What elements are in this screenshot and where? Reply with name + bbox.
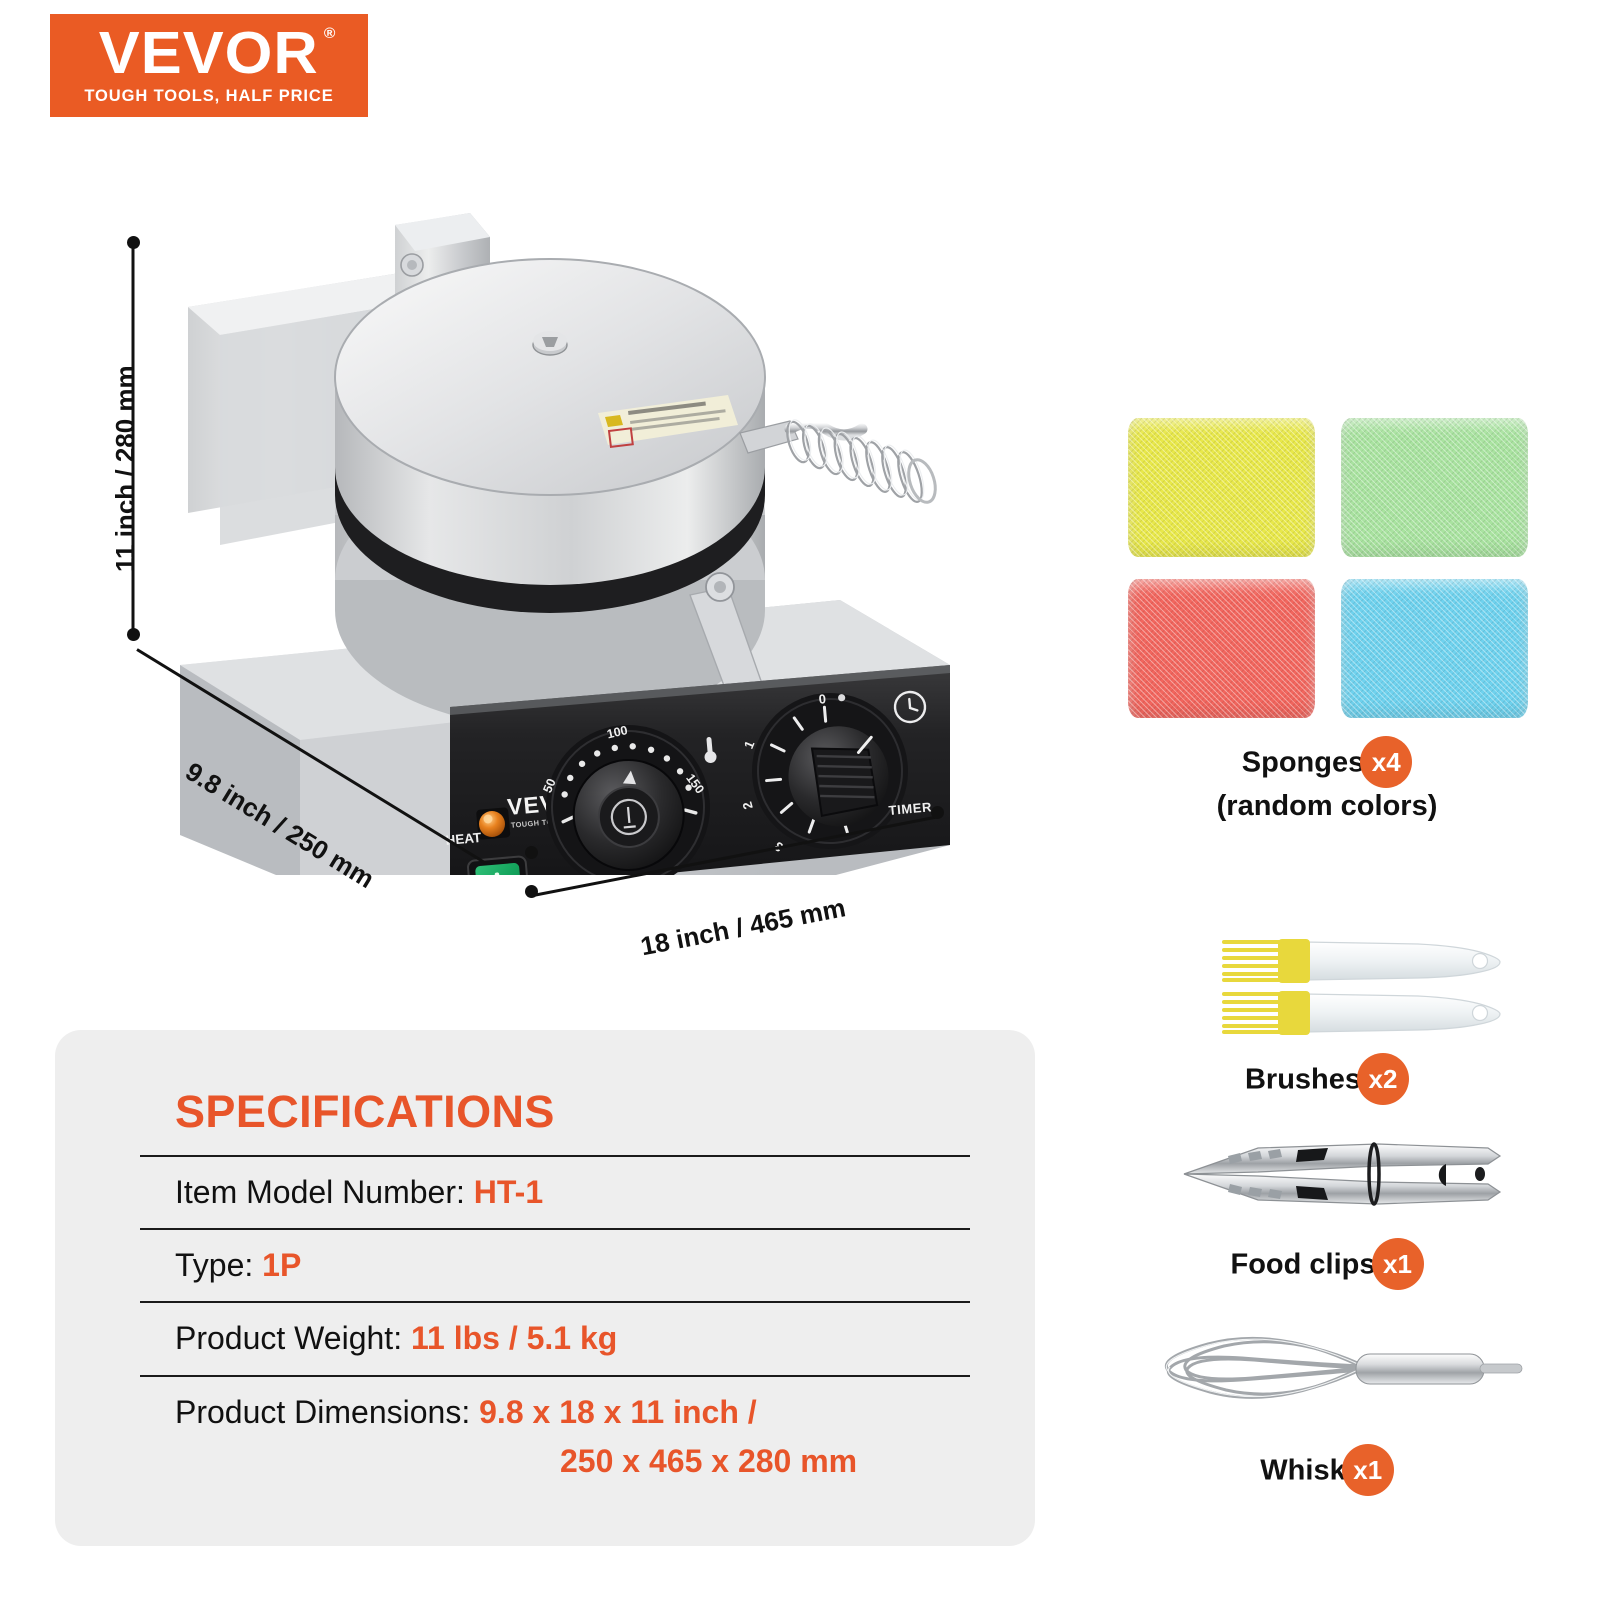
spec-value-type: 1P (262, 1247, 301, 1283)
whisk-wires (1166, 1338, 1360, 1397)
sponge-red (1128, 579, 1315, 718)
brush-2 (1224, 991, 1500, 1035)
infographic-page: VEVOR ® TOUGH TOOLS, HALF PRICE (0, 0, 1600, 1600)
spec-row-model: Item Model Number: HT-1 (140, 1155, 970, 1228)
food-clips-qty-badge: x1 (1372, 1238, 1424, 1290)
brushes-qty-badge: x2 (1357, 1053, 1409, 1105)
spec-value-model: HT-1 (474, 1174, 543, 1210)
food-clips-caption: Food clipsx1 (1128, 1240, 1526, 1292)
spec-row-dimensions: Product Dimensions: 9.8 x 18 x 11 inch /… (140, 1375, 970, 1487)
accessory-sponges: Spongesx4 (random colors) (1128, 418, 1526, 848)
spec-label-type: Type: (175, 1247, 253, 1283)
heat-indicator-lamp (476, 807, 510, 840)
lid-bolt (533, 331, 567, 355)
dim-height-dot-bottom (127, 628, 140, 641)
sponge-green (1341, 418, 1528, 557)
accessory-whisk: Whiskx1 (1128, 1318, 1526, 1498)
sponges-note: (random colors) (1128, 790, 1526, 823)
brushes-name: Brushes (1245, 1064, 1361, 1096)
brand-name-text: VEVOR (99, 20, 319, 86)
specifications-title: SPECIFICATIONS (175, 1086, 555, 1138)
timer-knob-grip[interactable] (812, 743, 878, 816)
dim-depth-dot-end (525, 846, 538, 859)
spec-value-dimensions: 9.8 x 18 x 11 inch / (479, 1394, 757, 1430)
accessory-brushes: Brushesx2 (1128, 930, 1526, 1110)
dim-width-dot-end (931, 806, 944, 819)
registered-trademark-icon: ® (324, 27, 337, 41)
whisk-name: Whisk (1260, 1455, 1345, 1487)
tongs (1184, 1144, 1500, 1204)
sponges-name: Sponges (1242, 747, 1364, 779)
brushes-caption: Brushesx2 (1128, 1055, 1526, 1107)
brushes-image (1128, 930, 1526, 1050)
spec-label-model: Item Model Number: (175, 1174, 465, 1210)
spec-label-weight: Product Weight: (175, 1320, 402, 1356)
sponge-grid (1128, 418, 1528, 718)
specifications-card: SPECIFICATIONS Item Model Number: HT-1 T… (55, 1030, 1035, 1546)
whisk-image (1128, 1318, 1526, 1438)
whisk-caption: Whiskx1 (1128, 1446, 1526, 1498)
product-image: VEVOR TOUGH TOOLS, HALF PRICE HEAT POWER (150, 195, 970, 875)
spring-handle (740, 417, 940, 505)
spec-value-dimensions-metric: 250 x 465 x 280 mm (560, 1440, 970, 1483)
specifications-table: Item Model Number: HT-1 Type: 1P Product… (140, 1155, 970, 1487)
brand-wordmark: VEVOR ® (99, 25, 319, 82)
whisk-handle (1356, 1354, 1522, 1384)
spec-value-weight: 11 lbs / 5.1 kg (411, 1320, 617, 1356)
sponges-qty-badge: x4 (1360, 736, 1412, 788)
brand-tagline: TOUGH TOOLS, HALF PRICE (84, 87, 333, 106)
spec-label-dimensions: Product Dimensions: (175, 1394, 470, 1430)
sponges-caption: Spongesx4 (random colors) (1128, 738, 1526, 823)
vevor-logo: VEVOR ® TOUGH TOOLS, HALF PRICE (50, 14, 368, 117)
spec-row-type: Type: 1P (140, 1228, 970, 1301)
spec-row-weight: Product Weight: 11 lbs / 5.1 kg (140, 1301, 970, 1374)
brush-1 (1224, 939, 1500, 983)
dim-width-label: 18 inch / 465 mm (638, 892, 848, 962)
timer-tick-0: 0 (818, 691, 827, 707)
whisk-qty-badge: x1 (1342, 1444, 1394, 1496)
accessory-food-clips: Food clipsx1 (1128, 1122, 1526, 1292)
sponge-yellow (1128, 418, 1315, 557)
food-clips-image (1128, 1122, 1526, 1232)
food-clips-name: Food clips (1231, 1249, 1376, 1281)
sponge-blue (1341, 579, 1528, 718)
dim-height-label: 11 inch / 280 mm (110, 365, 141, 572)
